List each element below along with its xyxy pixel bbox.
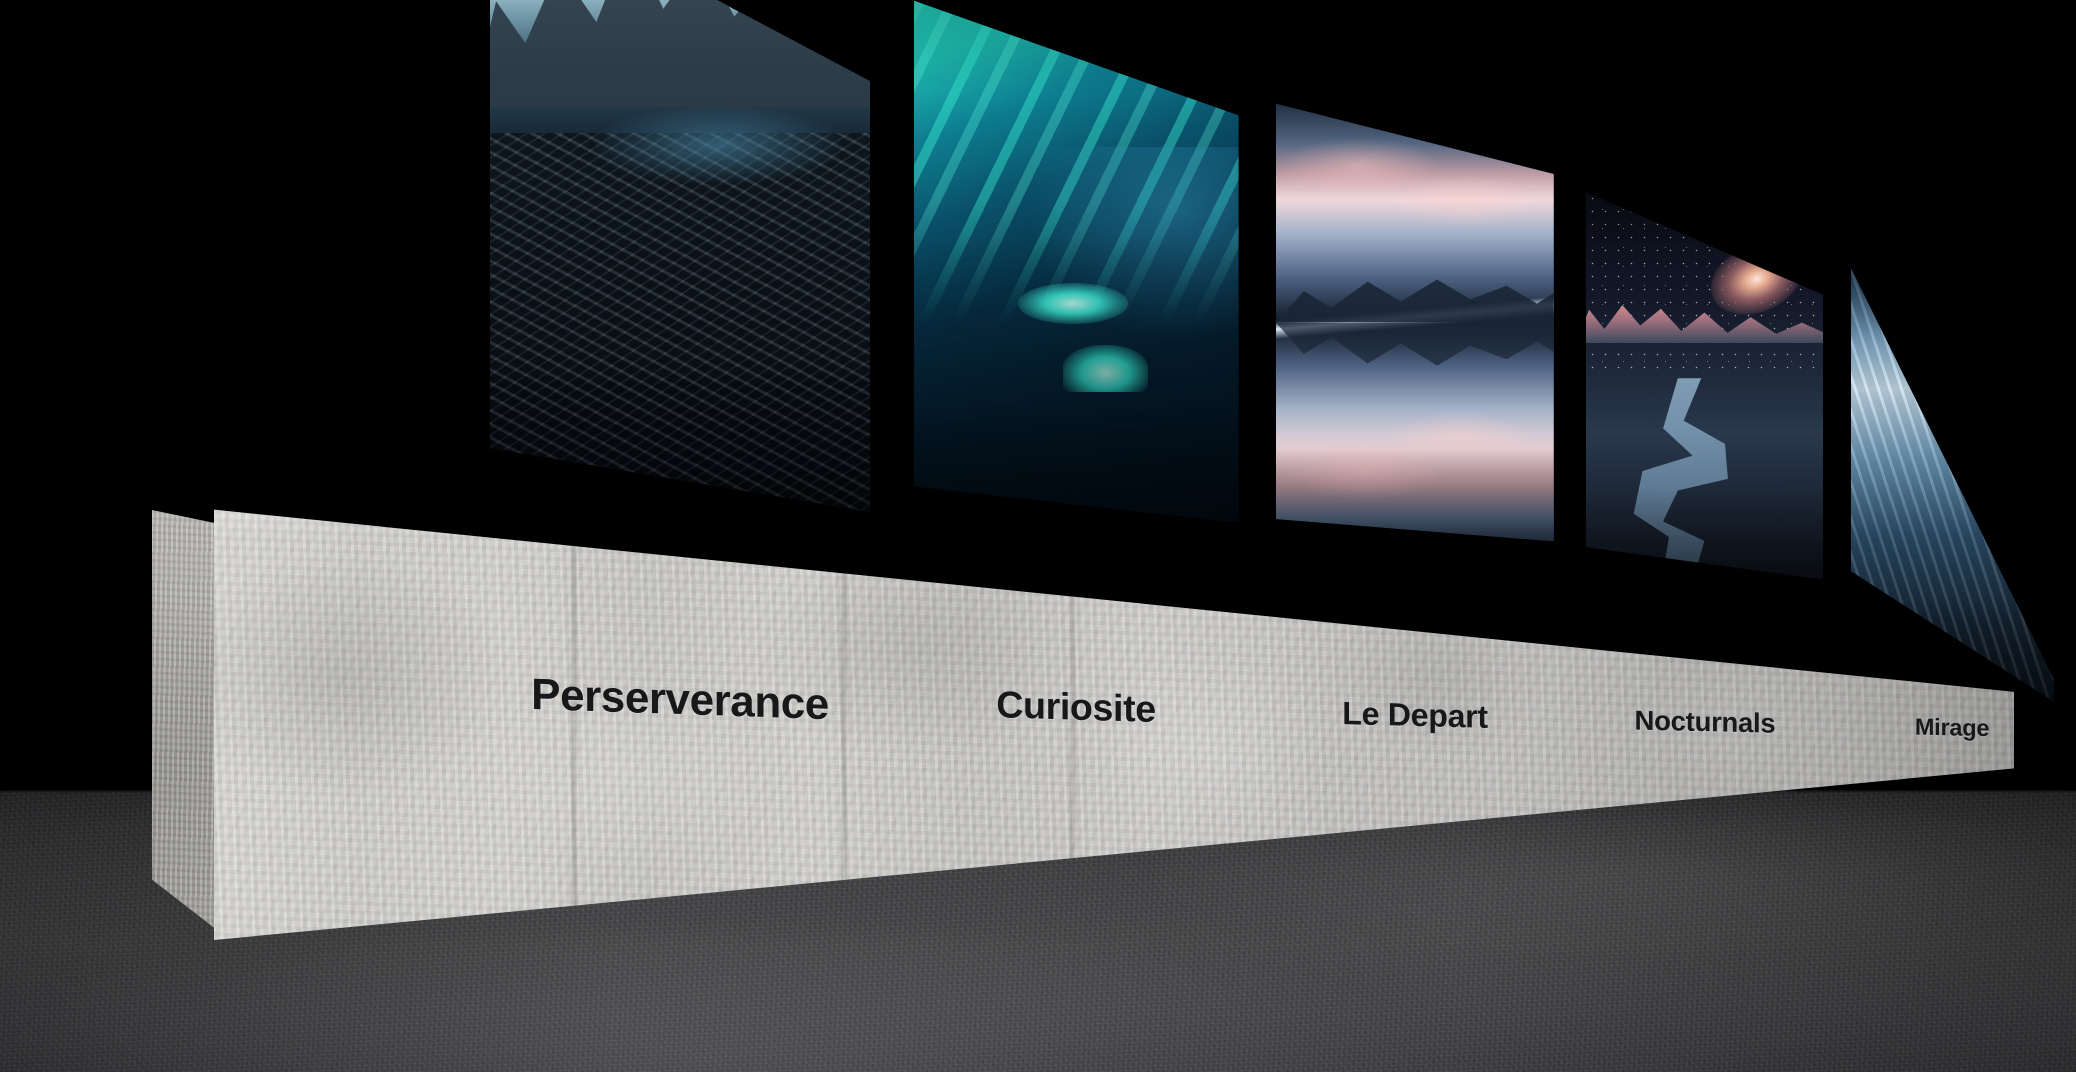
artwork-title-label[interactable]: Le Depart [1342, 697, 1487, 735]
artwork-title-label[interactable]: Nocturnals [1634, 706, 1775, 738]
artwork-title-label[interactable]: Curiosite [996, 685, 1156, 729]
gallery-3d-scene[interactable]: PerserveranceCuriositeLe DepartNocturnal… [0, 0, 2076, 1072]
artwork-title-label[interactable]: Mirage [1915, 715, 1989, 741]
artwork-title-label[interactable]: Perserverance [531, 672, 829, 728]
artwork-title-row: PerserveranceCuriositeLe DepartNocturnal… [0, 0, 2076, 1072]
